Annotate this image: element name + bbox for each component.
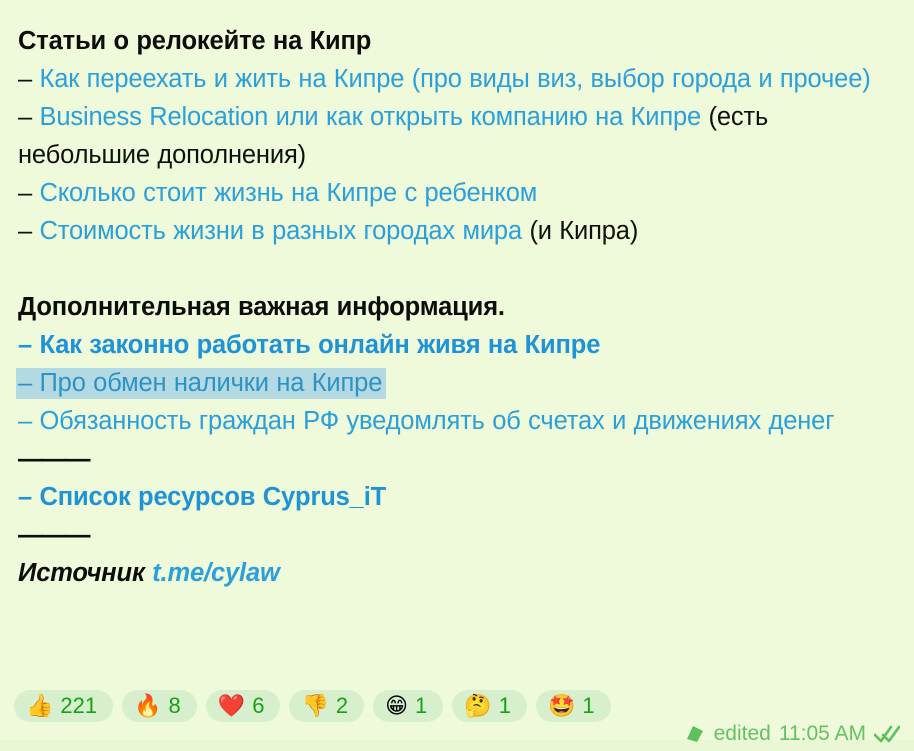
link-cost-of-living-with-child[interactable]: Сколько стоит жизнь на Кипре с ребенком xyxy=(39,179,537,207)
telegram-message-bubble: Статьи о релокейте на Кипр – Как перееха… xyxy=(0,0,914,740)
thumbs-down-icon: 👎 xyxy=(301,695,328,717)
reaction-star-struck[interactable]: 🤩 1 xyxy=(536,690,611,722)
section-heading-extra-info: Дополнительная важная информация. xyxy=(18,288,898,326)
list-dash: – xyxy=(18,407,32,435)
message-timestamp: 11:05 AM xyxy=(779,722,866,746)
list-dash: – xyxy=(18,331,32,359)
reaction-thinking[interactable]: 🤔 1 xyxy=(452,690,527,722)
note-cost-world-cities: (и Кипра) xyxy=(529,217,638,245)
list-dash: – xyxy=(18,217,32,245)
list-dash: – xyxy=(18,179,32,207)
list-dash: – xyxy=(18,369,32,397)
reaction-heart[interactable]: ❤️ 6 xyxy=(206,690,281,722)
list-item-resources-list: – Список ресурсов Cyprus_iT xyxy=(18,478,898,516)
star-struck-icon: 🤩 xyxy=(548,695,575,717)
link-cost-of-living-world-cities[interactable]: Стоимость жизни в разных городах мира xyxy=(39,217,522,245)
reaction-thumbs-up[interactable]: 👍 221 xyxy=(14,690,113,722)
link-cash-exchange-in-cyprus[interactable]: Про обмен налички на Кипре xyxy=(39,369,382,397)
grinning-face-icon: 😁 xyxy=(385,695,408,717)
link-business-relocation[interactable]: Business Relocation или как открыть комп… xyxy=(39,103,701,131)
link-work-online-legally[interactable]: Как законно работать онлайн живя на Кипр… xyxy=(39,331,600,359)
heading-articles-label: Статьи о релокейте на Кипр xyxy=(18,27,371,55)
pin-icon xyxy=(684,723,706,745)
reaction-thumbs-down[interactable]: 👎 2 xyxy=(289,690,364,722)
message-text-body: Статьи о релокейте на Кипр – Как перееха… xyxy=(18,22,898,592)
highlighted-selection: – Про обмен налички на Кипре xyxy=(16,368,386,399)
source-label: Источник xyxy=(18,559,145,587)
reaction-fire[interactable]: 🔥 8 xyxy=(122,690,197,722)
source-line: Источник t.me/cylaw xyxy=(18,554,898,592)
list-item-cash-exchange: – Про обмен налички на Кипре xyxy=(18,364,898,402)
paragraph-spacer xyxy=(18,250,898,288)
thinking-face-icon: 🤔 xyxy=(464,695,491,717)
link-cyprus-it-resources-list[interactable]: Список ресурсов Cyprus_iT xyxy=(39,483,386,511)
divider-rule-top: ——— xyxy=(18,440,898,478)
reaction-count: 1 xyxy=(415,695,427,717)
reaction-count: 6 xyxy=(252,695,264,717)
list-item-how-to-move: – Как переехать и жить на Кипре (про вид… xyxy=(18,60,898,98)
list-item-business-relocation: – Business Relocation или как открыть ко… xyxy=(18,98,898,174)
list-item-cost-with-child: – Сколько стоит жизнь на Кипре с ребенко… xyxy=(18,174,898,212)
section-heading-articles: Статьи о релокейте на Кипр xyxy=(18,22,898,60)
divider-rule-bottom: ——— xyxy=(18,516,898,554)
reaction-count: 8 xyxy=(169,695,181,717)
thumbs-up-icon: 👍 xyxy=(26,695,53,717)
link-rf-citizens-notify-accounts[interactable]: Обязанность граждан РФ уведомлять об сче… xyxy=(39,407,834,435)
list-item-cost-world-cities: – Стоимость жизни в разных городах мира … xyxy=(18,212,898,250)
reaction-count: 221 xyxy=(60,695,97,717)
double-check-icon xyxy=(874,724,900,744)
reactions-bar: 👍 221 🔥 8 ❤️ 6 👎 2 😁 1 🤔 1 🤩 1 xyxy=(14,690,611,722)
list-item-rf-accounts-duty: – Обязанность граждан РФ уведомлять об с… xyxy=(18,402,898,440)
reaction-count: 1 xyxy=(499,695,511,717)
edited-label: edited xyxy=(714,722,771,746)
reaction-count: 2 xyxy=(336,695,348,717)
message-meta-footer: edited 11:05 AM xyxy=(684,722,900,746)
heading-extra-info-label: Дополнительная важная информация. xyxy=(18,293,505,321)
link-source-cylaw[interactable]: t.me/cylaw xyxy=(152,559,279,587)
link-how-to-move-and-live-in-cyprus[interactable]: Как переехать и жить на Кипре (про виды … xyxy=(39,65,870,93)
list-dash: – xyxy=(18,483,32,511)
list-dash: – xyxy=(18,65,32,93)
fire-icon: 🔥 xyxy=(134,695,161,717)
reaction-grinning[interactable]: 😁 1 xyxy=(373,690,443,722)
list-item-work-online-legally: – Как законно работать онлайн живя на Ки… xyxy=(18,326,898,364)
list-dash: – xyxy=(18,103,32,131)
reaction-count: 1 xyxy=(582,695,594,717)
red-heart-icon: ❤️ xyxy=(218,695,245,717)
